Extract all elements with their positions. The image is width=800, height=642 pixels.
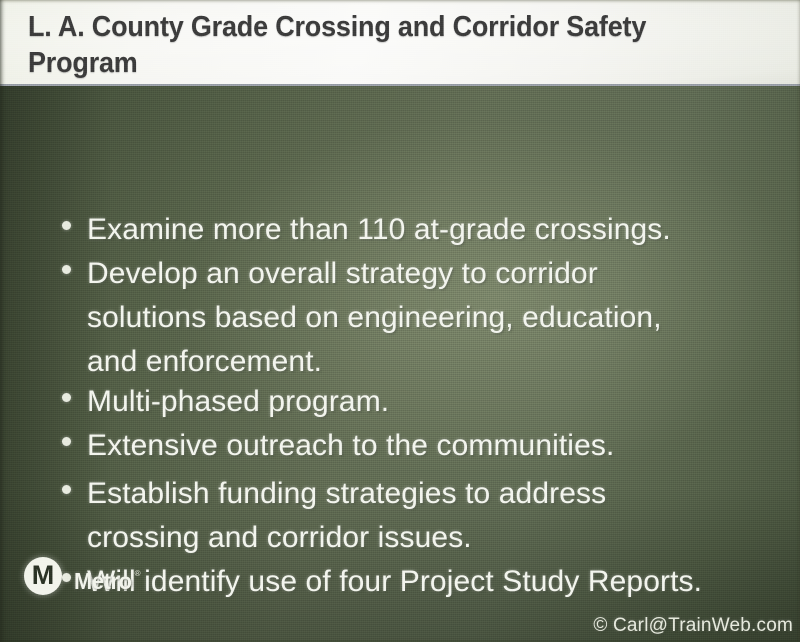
- metro-m-circle-icon: M: [24, 557, 62, 595]
- bullet-text: Examine more than 110 at-grade crossings…: [87, 208, 762, 252]
- bullet-dot-icon: [62, 265, 71, 274]
- bullet-item: Will identify use of four Project Study …: [62, 560, 762, 604]
- bullet-item: Develop an overall strategy to corridor …: [62, 252, 762, 384]
- bullet-item: Extensive outreach to the communities.: [62, 424, 762, 468]
- bullet-dot-icon: [62, 437, 71, 446]
- bullet-text: Will identify use of four Project Study …: [87, 560, 762, 604]
- bullet-text: Multi-phased program.: [87, 380, 762, 424]
- bullet-item: Establish funding strategies to address …: [62, 472, 762, 560]
- bullet-item: Examine more than 110 at-grade crossings…: [62, 208, 762, 252]
- registered-trademark-icon: ®: [135, 569, 141, 578]
- presentation-slide-photo: L. A. County Grade Crossing and Corridor…: [0, 0, 800, 642]
- bullet-text: Develop an overall strategy to corridor …: [87, 252, 762, 384]
- bullet-item: Multi-phased program.: [62, 380, 762, 424]
- bullet-dot-icon: [62, 393, 71, 402]
- metro-m-letter: M: [32, 562, 55, 589]
- metro-wordmark: Metro: [74, 568, 132, 595]
- bullet-dot-icon: [62, 221, 71, 230]
- slide-title: L. A. County Grade Crossing and Corridor…: [28, 9, 707, 81]
- slide-title-band: L. A. County Grade Crossing and Corridor…: [0, 0, 800, 86]
- photo-watermark: © Carl@TrainWeb.com: [593, 615, 793, 637]
- metro-wordmark-group: Metro ®: [74, 568, 141, 595]
- bullet-text: Extensive outreach to the communities.: [87, 424, 762, 468]
- metro-logo: M Metro ®: [24, 556, 141, 595]
- bullet-text: Establish funding strategies to address …: [87, 472, 762, 560]
- bullet-dot-icon: [62, 485, 71, 494]
